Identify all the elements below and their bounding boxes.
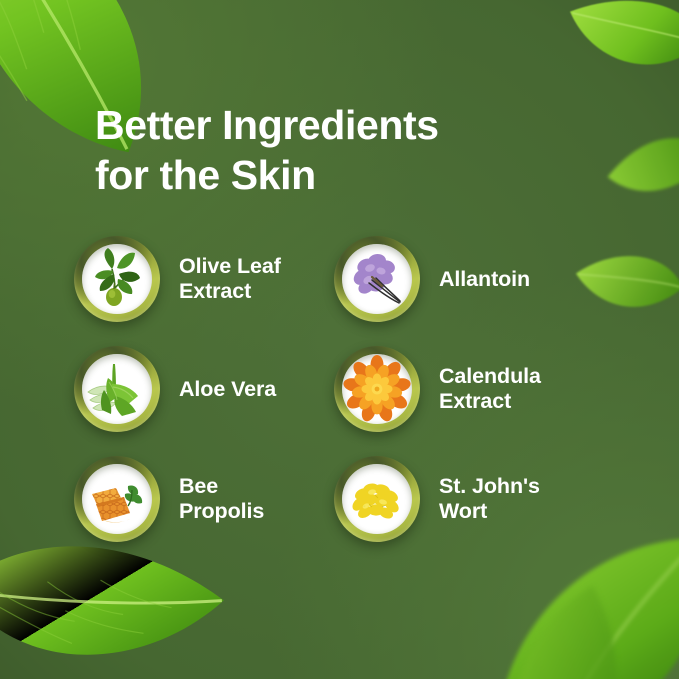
ingredient-label-line-1: Aloe Vera bbox=[179, 377, 276, 402]
ingredient-label-line-2: Propolis bbox=[179, 499, 264, 524]
badge-face bbox=[342, 244, 412, 314]
ingredient-badge bbox=[74, 236, 160, 322]
ingredient-badge bbox=[334, 346, 420, 432]
ingredient-item-bee-propolis[interactable]: Bee Propolis bbox=[74, 456, 264, 542]
ingredient-label-line-2: Extract bbox=[439, 389, 541, 414]
ingredient-item-aloe-vera[interactable]: Aloe Vera bbox=[74, 346, 276, 432]
badge-face bbox=[82, 354, 152, 424]
ingredient-label: Allantoin bbox=[439, 267, 530, 292]
badge-face bbox=[82, 464, 152, 534]
badge-face bbox=[342, 464, 412, 534]
ingredient-label: Olive Leaf Extract bbox=[179, 254, 281, 304]
ingredient-badge bbox=[74, 346, 160, 432]
ingredient-row: Aloe Vera bbox=[0, 346, 679, 456]
ingredient-label-line-1: Olive Leaf bbox=[179, 254, 281, 279]
olive-branch-icon bbox=[82, 244, 152, 314]
ingredient-item-calendula-extract[interactable]: Calendula Extract bbox=[334, 346, 541, 432]
ingredient-label-line-1: Bee bbox=[179, 474, 264, 499]
ingredient-label-line-1: Calendula bbox=[439, 364, 541, 389]
ingredient-label: Aloe Vera bbox=[179, 377, 276, 402]
ingredient-item-st-johns-wort[interactable]: St. John's Wort bbox=[334, 456, 540, 542]
page-title-line-2: for the Skin bbox=[95, 150, 565, 200]
ingredient-badge bbox=[334, 456, 420, 542]
ingredient-label: Bee Propolis bbox=[179, 474, 264, 524]
ingredient-row: Olive Leaf Extract bbox=[0, 236, 679, 346]
ingredient-label-line-2: Wort bbox=[439, 499, 540, 524]
leaf-bottom-right-secondary-icon bbox=[481, 580, 651, 679]
ingredient-badge bbox=[74, 456, 160, 542]
yellow-flower-icon bbox=[342, 464, 412, 534]
ingredient-item-allantoin[interactable]: Allantoin bbox=[334, 236, 530, 322]
ingredient-label: St. John's Wort bbox=[439, 474, 540, 524]
ingredient-label: Calendula Extract bbox=[439, 364, 541, 414]
ingredient-label-line-2: Extract bbox=[179, 279, 281, 304]
ingredient-grid: Olive Leaf Extract bbox=[0, 236, 679, 566]
ingredient-badge bbox=[334, 236, 420, 322]
ingredient-item-olive-leaf-extract[interactable]: Olive Leaf Extract bbox=[74, 236, 281, 322]
honeycomb-icon bbox=[82, 464, 152, 534]
page-title-line-1: Better Ingredients bbox=[95, 100, 565, 150]
ingredient-label-line-1: St. John's bbox=[439, 474, 540, 499]
comfrey-flower-icon bbox=[342, 244, 412, 314]
page-title: Better Ingredients for the Skin bbox=[95, 100, 565, 200]
marigold-flower-icon bbox=[342, 354, 412, 424]
aloe-leaf-icon bbox=[82, 354, 152, 424]
badge-face bbox=[342, 354, 412, 424]
badge-face bbox=[82, 244, 152, 314]
ingredient-label-line-1: Allantoin bbox=[439, 267, 530, 292]
ingredient-row: Bee Propolis bbox=[0, 456, 679, 566]
